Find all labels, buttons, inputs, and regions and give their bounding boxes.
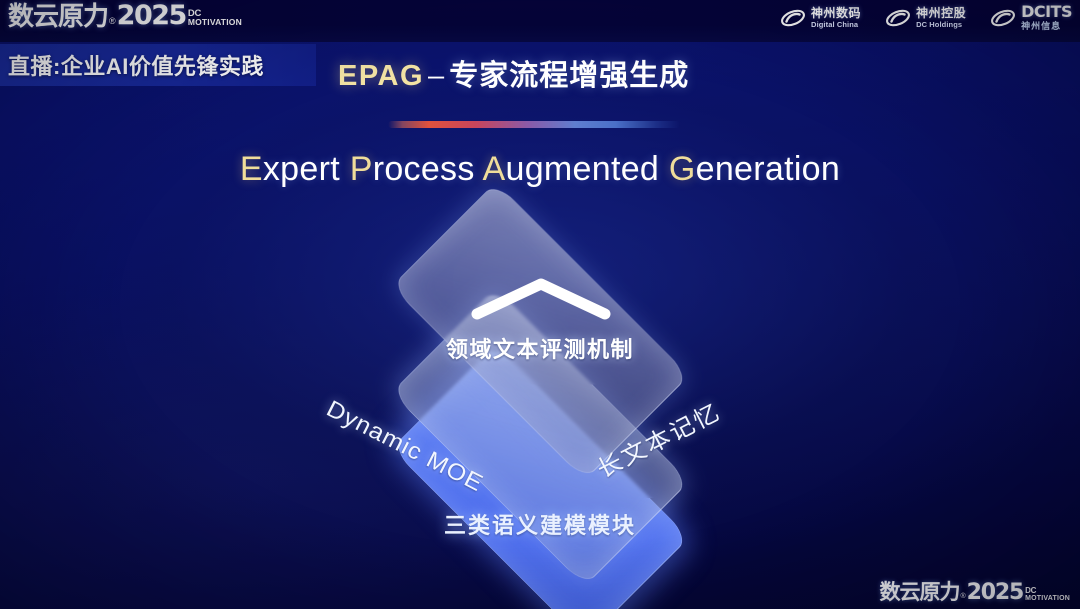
partner-logo-text: 神州数码 Digital China: [811, 7, 861, 29]
subtitle-capital: E: [240, 150, 263, 188]
watermark-chinese: 数云原力: [879, 582, 959, 603]
partner-logo-cn: 神州数码: [811, 7, 861, 19]
header-bar: 数云原力 ® 2025 DC MOTIVATION 神州数码 Digital C…: [0, 0, 1080, 42]
subtitle-rest: eneration: [696, 150, 840, 188]
brand-logo-year: 2025: [117, 3, 186, 29]
partner-logo-digital-china: 神州数码 Digital China: [780, 6, 861, 30]
watermark-tagline-line1: DC: [1025, 587, 1070, 595]
brand-logo-chinese: 数云原力: [8, 3, 108, 29]
corner-watermark-logo: 数云原力 ® 2025 DC MOTIVATION: [879, 582, 1070, 603]
gradient-rule: [388, 121, 680, 128]
watermark-tagline-line2: MOTIVATION: [1025, 595, 1070, 603]
partner-logo-dc-holdings: 神州控股 DC Holdings: [885, 6, 966, 30]
watermark-tagline: DC MOTIVATION: [1025, 587, 1070, 603]
stack-layer-middle-label-right: 长文本记忆: [590, 355, 801, 485]
partner-logo-en: Digital China: [811, 21, 861, 29]
brand-logo-tagline-line2: MOTIVATION: [188, 18, 242, 27]
subtitle-capital: G: [669, 150, 696, 188]
partner-logo-text: 神州控股 DC Holdings: [916, 7, 966, 29]
watermark-registered-mark: ®: [960, 591, 965, 603]
subtitle-rest: rocess: [373, 150, 483, 188]
brand-logo-registered-mark: ®: [109, 13, 116, 29]
subtitle-word-augmented: Augmented: [483, 150, 669, 188]
live-stream-banner: 直播:企业AI价值先锋实践: [0, 44, 316, 86]
subtitle-word-expert: Expert: [240, 150, 350, 188]
subtitle-rest: xpert: [263, 150, 350, 188]
partner-logo-dcits: DCITS 神州信息: [990, 4, 1072, 31]
subtitle-capital: A: [483, 150, 506, 188]
subtitle-rest: ugmented: [506, 150, 669, 188]
stack-layer-bottom-label: 三类语义建模模块: [0, 508, 1080, 540]
page-title-acronym: EPAG: [338, 60, 424, 92]
live-stream-banner-text: 直播:企业AI价值先锋实践: [0, 49, 264, 81]
brand-logo-tagline: DC MOTIVATION: [188, 9, 242, 29]
subtitle-capital: P: [350, 150, 373, 188]
page-subtitle: Expert Process Augmented Generation: [0, 150, 1080, 189]
swirl-logo-icon: [990, 6, 1016, 30]
subtitle-word-process: Process: [350, 150, 483, 188]
partner-logo-cn: DCITS: [1021, 4, 1072, 20]
partner-logo-en: DC Holdings: [916, 21, 966, 29]
slide-canvas: 数云原力 ® 2025 DC MOTIVATION 神州数码 Digital C…: [0, 0, 1080, 609]
page-title: EPAG–专家流程增强生成: [338, 52, 689, 94]
chevron-up-icon: [467, 272, 615, 327]
partner-logo-group: 神州数码 Digital China 神州控股 DC Holdings: [780, 4, 1072, 31]
stack-layer-top-label: 领域文本评测机制: [0, 332, 1080, 364]
watermark-year: 2025: [967, 582, 1023, 603]
partner-logo-cn: 神州控股: [916, 7, 966, 19]
page-title-dash: –: [424, 60, 449, 92]
page-title-chinese: 专家流程增强生成: [449, 60, 689, 92]
swirl-logo-icon: [885, 6, 911, 30]
subtitle-word-generation: Generation: [669, 150, 840, 188]
partner-logo-en: 神州信息: [1021, 22, 1072, 31]
swirl-logo-icon: [780, 6, 806, 30]
brand-logo: 数云原力 ® 2025 DC MOTIVATION: [8, 3, 242, 29]
partner-logo-text: DCITS 神州信息: [1021, 4, 1072, 31]
